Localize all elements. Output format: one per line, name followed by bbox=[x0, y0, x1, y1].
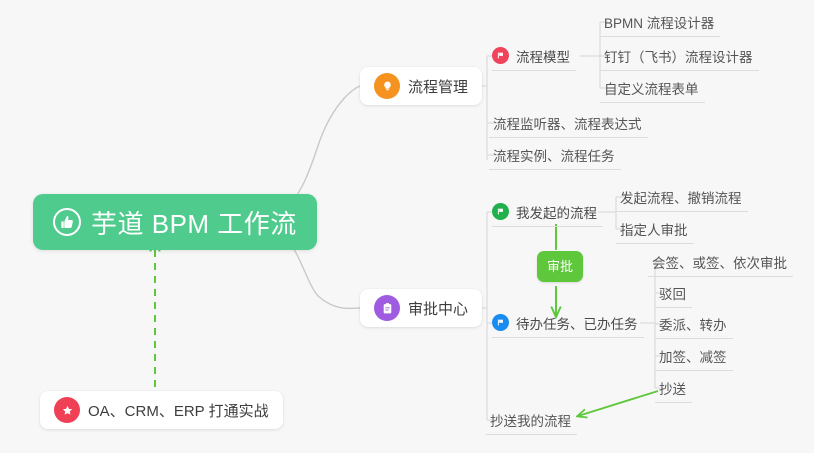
leaf-dingtalk-feishu-designer[interactable]: 钉钉（飞书）流程设计器 bbox=[600, 41, 759, 71]
node-todo-done[interactable]: 待办任务、已办任务 bbox=[492, 308, 644, 338]
clipboard-icon bbox=[374, 295, 400, 321]
thumbs-up-icon bbox=[53, 208, 81, 236]
flag-icon bbox=[492, 47, 509, 64]
root-label: 芋道 BPM 工作流 bbox=[91, 204, 297, 241]
callout-integration[interactable]: OA、CRM、ERP 打通实战 bbox=[40, 391, 283, 429]
callout-integration-label: OA、CRM、ERP 打通实战 bbox=[88, 400, 269, 421]
leaf-add-remove-sign-label: 加签、减签 bbox=[659, 346, 727, 366]
leaf-add-remove-sign[interactable]: 加签、减签 bbox=[655, 341, 733, 371]
node-todo-done-label: 待办任务、已办任务 bbox=[516, 313, 638, 333]
leaf-delegate-transfer[interactable]: 委派、转办 bbox=[655, 309, 733, 339]
leaf-cc-to-me-label: 抄送我的流程 bbox=[490, 410, 571, 430]
branch-process-management[interactable]: 流程管理 bbox=[360, 67, 482, 105]
node-my-initiated[interactable]: 我发起的流程 bbox=[492, 197, 603, 227]
connector-root-to-process-management bbox=[283, 86, 360, 208]
leaf-start-cancel-label: 发起流程、撤销流程 bbox=[620, 187, 742, 207]
leaf-bpmn-designer-label: BPMN 流程设计器 bbox=[604, 12, 714, 32]
leaf-custom-process-form[interactable]: 自定义流程表单 bbox=[600, 73, 705, 103]
branch-approval-center-label: 审批中心 bbox=[408, 298, 468, 319]
leaf-assignee-approve-label: 指定人审批 bbox=[620, 219, 688, 239]
leaf-dingtalk-feishu-designer-label: 钉钉（飞书）流程设计器 bbox=[604, 46, 753, 66]
leaf-bpmn-designer[interactable]: BPMN 流程设计器 bbox=[600, 7, 720, 37]
annotation-approval-badge-label: 审批 bbox=[547, 259, 573, 274]
flag-icon bbox=[492, 203, 509, 220]
leaf-cc-label: 抄送 bbox=[659, 378, 686, 398]
branch-approval-center[interactable]: 审批中心 bbox=[360, 289, 482, 327]
leaf-cc[interactable]: 抄送 bbox=[655, 373, 692, 403]
node-my-initiated-label: 我发起的流程 bbox=[516, 202, 597, 222]
leaf-listener-expression-label: 流程监听器、流程表达式 bbox=[493, 113, 642, 133]
annotation-approval-badge: 审批 bbox=[537, 251, 583, 282]
node-process-model[interactable]: 流程模型 bbox=[492, 41, 576, 71]
leaf-instance-task[interactable]: 流程实例、流程任务 bbox=[489, 140, 621, 170]
mindmap-canvas: 芋道 BPM 工作流 流程管理 流程模型 BPMN 流程设计器 钉钉（飞书）流程… bbox=[0, 0, 814, 453]
leaf-cc-to-me[interactable]: 抄送我的流程 bbox=[486, 405, 577, 435]
leaf-instance-task-label: 流程实例、流程任务 bbox=[493, 145, 615, 165]
arrow-cc-to-cc-to-me bbox=[578, 391, 658, 416]
root-node[interactable]: 芋道 BPM 工作流 bbox=[33, 194, 317, 250]
leaf-reject[interactable]: 驳回 bbox=[655, 278, 692, 308]
connector-process-model-spine bbox=[580, 22, 600, 56]
star-icon bbox=[54, 397, 80, 423]
leaf-delegate-transfer-label: 委派、转办 bbox=[659, 314, 727, 334]
leaf-start-cancel[interactable]: 发起流程、撤销流程 bbox=[616, 182, 748, 212]
leaf-countersign-label: 会签、或签、依次审批 bbox=[652, 252, 787, 272]
leaf-countersign[interactable]: 会签、或签、依次审批 bbox=[648, 247, 793, 277]
leaf-assignee-approve[interactable]: 指定人审批 bbox=[616, 214, 694, 244]
leaf-reject-label: 驳回 bbox=[659, 283, 686, 303]
lightbulb-pin-icon bbox=[374, 73, 400, 99]
leaf-custom-process-form-label: 自定义流程表单 bbox=[604, 78, 699, 98]
leaf-listener-expression[interactable]: 流程监听器、流程表达式 bbox=[489, 108, 648, 138]
flag-icon bbox=[492, 314, 509, 331]
branch-process-management-label: 流程管理 bbox=[408, 76, 468, 97]
node-process-model-label: 流程模型 bbox=[516, 46, 570, 66]
